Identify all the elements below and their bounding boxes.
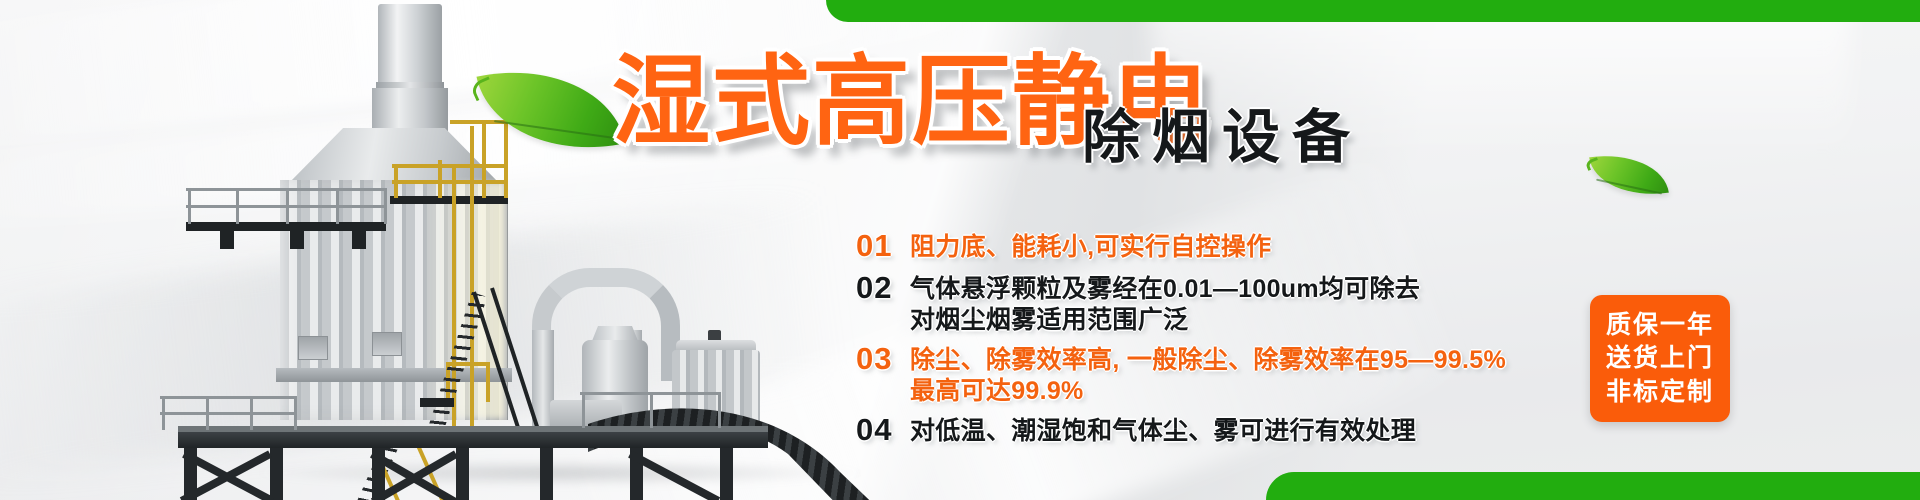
yellow-railing-rail [392,180,508,184]
deck-railing-post [250,396,253,430]
feature-list: 01阻力底、能耗小,可实行自控操作02气体悬浮颗粒及雾经在0.01—100um均… [856,228,1656,453]
headline-group: 湿式高压静电 除烟设备 [612,52,1212,150]
feature-text-line: 最高可达99.9% [910,376,1506,407]
feature-text: 阻力底、能耗小,可实行自控操作 [910,228,1271,263]
feature-number: 02 [856,270,910,307]
platform-bracket [290,231,304,249]
deck-railing-post [294,396,297,430]
tower-base-band [276,368,512,382]
feature-text: 对低温、潮湿饱和气体尘、雾可进行有效处理 [910,412,1416,447]
yellow-standpipe [470,126,474,426]
support-deck [178,432,768,448]
support-leg [540,448,553,500]
yellow-railing-post [438,160,442,198]
support-leg [270,448,283,500]
feature-text-line: 对低温、潮湿饱和气体尘、雾可进行有效处理 [910,416,1416,447]
feature-number: 03 [856,341,910,378]
stair-landing [420,398,454,407]
support-leg [456,448,469,500]
page-subtitle: 除烟设备 [1082,109,1362,167]
feature-text-line: 对烟尘烟雾适用范围广泛 [910,305,1420,336]
leaf-icon [1589,147,1669,203]
promo-badge-line: 送货上门 [1606,343,1714,374]
photo-ground-shadow [250,460,870,486]
deck-railing-rail [160,396,296,399]
deck-railing-post [650,392,653,428]
railing-post [188,188,191,224]
product-banner: 湿式高压静电 除烟设备 01阻力底、能耗小,可实行自控操作02气体悬浮颗粒及雾经… [0,0,1920,500]
feature-text-line: 阻力底、能耗小,可实行自控操作 [910,232,1271,263]
promo-badge-line: 质保一年 [1606,310,1714,341]
feature-text-line: 除尘、除雾效率高, 一般除尘、除雾效率在95—99.5% [910,345,1506,376]
platform-bracket [352,231,366,249]
yellow-railing-post [394,164,398,198]
yellow-railing-rail [392,164,508,168]
access-door [372,332,402,356]
feature-number: 01 [856,228,910,265]
promo-badge-line: 非标定制 [1606,377,1714,408]
feature-text-line: 气体悬浮颗粒及雾经在0.01—100um均可除去 [910,274,1420,305]
deck-railing-post [206,396,209,430]
deck-railing-rail [160,412,296,415]
railing-post [286,188,289,224]
feature-text: 气体悬浮颗粒及雾经在0.01—100um均可除去对烟尘烟雾适用范围广泛 [910,270,1420,336]
access-door [298,336,328,360]
yellow-railing-post [482,120,486,198]
deck-railing-post [718,392,721,428]
green-bottom-bar [1266,472,1920,500]
feature-text: 除尘、除雾效率高, 一般除尘、除雾效率在95—99.5%最高可达99.9% [910,341,1506,407]
deck-railing-post [162,396,165,430]
feature-item: 01阻力底、能耗小,可实行自控操作 [856,228,1656,265]
deck-railing-post [582,392,585,428]
support-leg [720,448,733,500]
promo-badge[interactable]: 质保一年送货上门非标定制 [1590,295,1730,422]
railing-post [236,188,239,224]
yellow-gate-post [486,362,490,402]
feature-item: 02气体悬浮颗粒及雾经在0.01—100um均可除去对烟尘烟雾适用范围广泛 [856,270,1656,336]
feature-number: 04 [856,412,910,449]
platform-bracket [220,231,234,249]
railing-post [336,188,339,224]
green-top-bar [826,0,1920,22]
mid-platform [390,196,508,204]
feature-item: 04对低温、潮湿饱和气体尘、雾可进行有效处理 [856,412,1656,449]
railing-post [384,188,387,224]
feature-item: 03除尘、除雾效率高, 一般除尘、除雾效率在95—99.5%最高可达99.9% [856,341,1656,407]
tower-highlight [420,182,504,418]
